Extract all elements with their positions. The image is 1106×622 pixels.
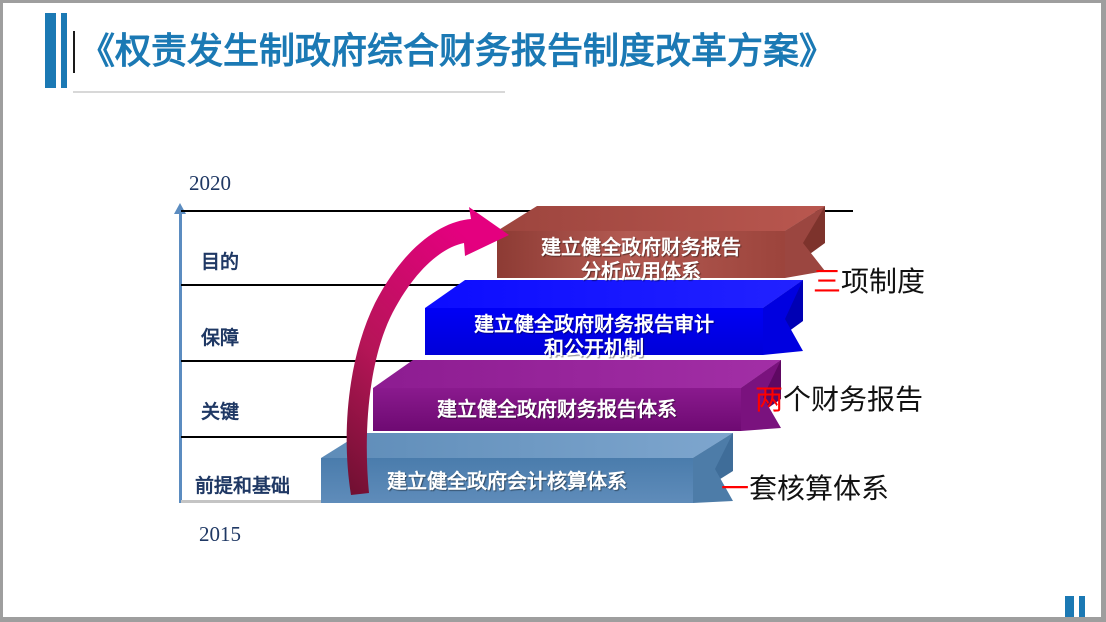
steps-diagram: 2020 2015 目的 保障 关键 前提和基础: [3, 3, 1101, 617]
slide-canvas: 《权责发生制政府综合财务报告制度改革方案》 2020 2015 目的 保障 关键…: [3, 3, 1101, 617]
annotation-1-highlight: 一: [721, 472, 749, 505]
annotation-3-highlight: 三: [813, 265, 841, 298]
annotation-1: 一套核算体系: [721, 467, 889, 507]
step-block-4: [497, 206, 825, 278]
annotation-1-rest: 套核算体系: [749, 472, 889, 505]
step-block-2: [373, 360, 781, 431]
annotation-2: 两个财务报告: [755, 378, 923, 418]
corner-mark-wide: [1065, 596, 1074, 617]
step-block-3: [425, 280, 803, 355]
corner-mark-thin: [1079, 596, 1085, 617]
annotation-3-rest: 项制度: [841, 265, 925, 298]
step-block-1: [321, 433, 733, 503]
annotation-2-rest: 个财务报告: [783, 383, 923, 416]
annotation-3: 三项制度: [813, 260, 925, 300]
annotation-2-highlight: 两: [755, 383, 783, 416]
step-blocks-group: [3, 3, 1101, 617]
